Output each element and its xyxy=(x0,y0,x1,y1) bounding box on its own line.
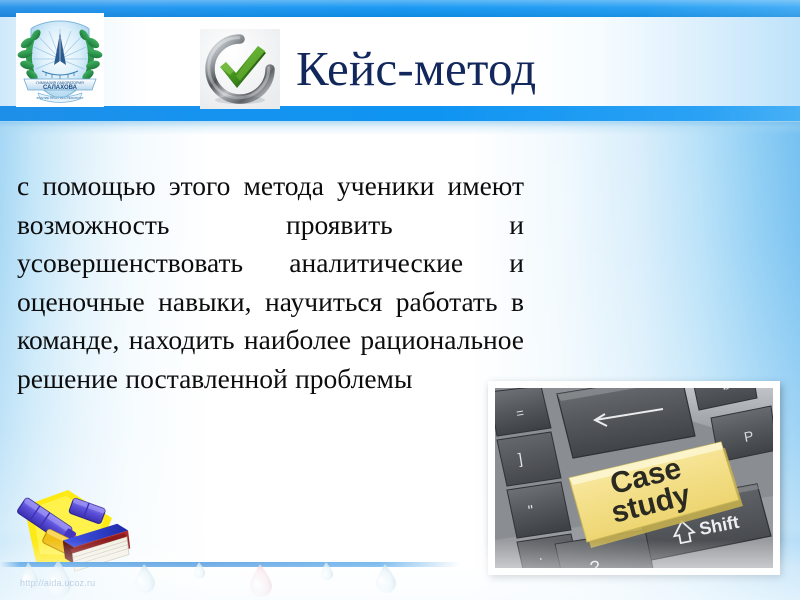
slide-header: ГИМНАЗИЯ ЛАБОРАТОРИЯ САЛАХОВА ЗНАНИЕ ПРА… xyxy=(0,0,800,130)
school-emblem-icon: ГИМНАЗИЯ ЛАБОРАТОРИЯ САЛАХОВА ЗНАНИЕ ПРА… xyxy=(16,13,104,107)
page-title: Кейс-метод xyxy=(296,34,536,104)
droplet xyxy=(250,564,272,597)
slide-canvas: ГИМНАЗИЯ ЛАБОРАТОРИЯ САЛАХОВА ЗНАНИЕ ПРА… xyxy=(0,0,800,600)
keyboard-photo: = ] " . xyxy=(488,381,780,575)
header-top-bar-sheen xyxy=(0,0,800,17)
header-bottom-bar xyxy=(0,106,800,121)
water-droplets-icon xyxy=(0,552,470,600)
body-paragraph: с помощью этого метода ученики имеют воз… xyxy=(17,167,524,398)
emblem-line2: САЛАХОВА xyxy=(43,85,78,91)
droplet xyxy=(135,564,155,593)
emblem-ribbon: ЗНАНИЕ ПРАКТИКА РЕЗУЛЬТАТ xyxy=(36,96,83,100)
droplet xyxy=(376,564,396,593)
droplet xyxy=(194,562,205,579)
keyboard-photo-inner: = ] " . xyxy=(495,388,773,568)
header-bottom-bar-fade xyxy=(0,121,800,135)
droplet xyxy=(321,562,333,580)
watermark: http://aida.ucoz.ru xyxy=(20,578,95,588)
green-checkmark-icon xyxy=(200,29,280,109)
